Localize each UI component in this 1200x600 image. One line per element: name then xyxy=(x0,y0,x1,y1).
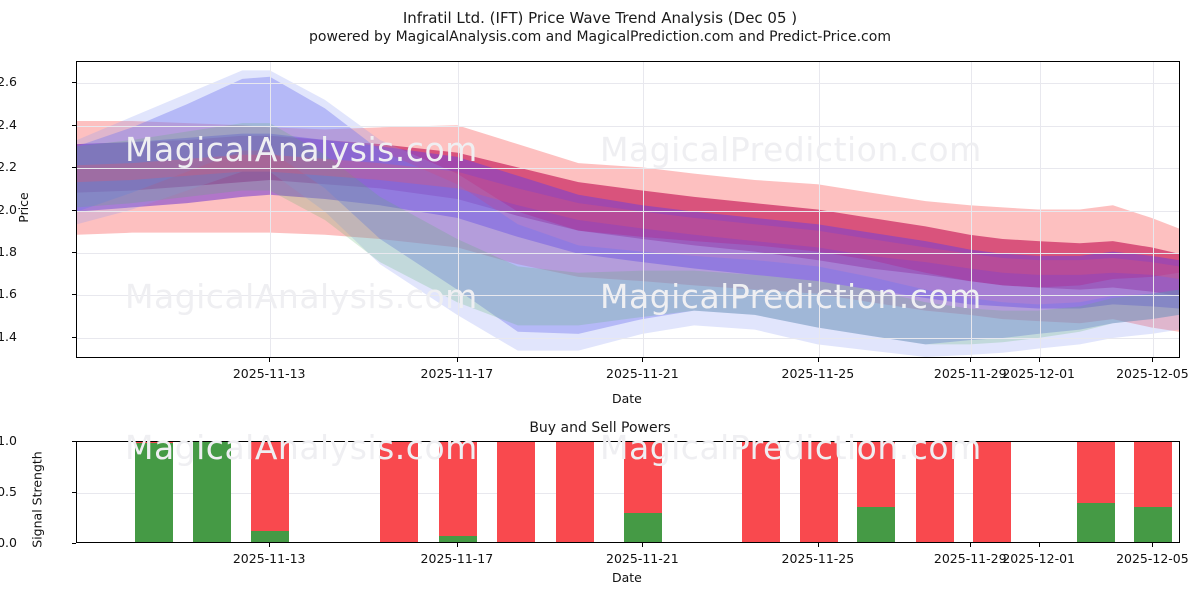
signal-chart-plot-area xyxy=(76,441,1180,543)
signal-bar-sell-segment xyxy=(857,441,895,507)
signal-x-axis-title: Date xyxy=(612,570,642,585)
signal-y-tick xyxy=(72,441,76,442)
price-y-tick xyxy=(72,82,76,83)
price-x-tick xyxy=(457,358,458,362)
signal-bar-sell-segment xyxy=(1077,441,1115,503)
price-gridline-horizontal xyxy=(77,83,1179,84)
signal-x-tick-label: 2025-11-21 xyxy=(606,551,679,566)
signal-chart-title: Buy and Sell Powers xyxy=(0,420,1200,436)
price-y-tick-label: 11.6 xyxy=(0,286,17,301)
price-x-tick-label: 2025-11-13 xyxy=(233,366,306,381)
price-y-tick xyxy=(72,210,76,211)
signal-bar-buy-segment xyxy=(439,536,477,542)
signal-x-tick xyxy=(269,543,270,547)
signal-y-axis-title: Signal Strength xyxy=(30,451,45,547)
signal-bar[interactable] xyxy=(857,441,895,542)
signal-bar-sell-segment xyxy=(973,441,1011,542)
signal-bar-sell-segment xyxy=(742,441,780,542)
price-gridline-vertical xyxy=(1153,62,1154,357)
price-x-tick xyxy=(1152,358,1153,362)
price-gridline-vertical xyxy=(270,62,271,357)
signal-bar-sell-segment xyxy=(556,441,594,542)
signal-bar-sell-segment xyxy=(251,441,289,531)
price-gridline-horizontal xyxy=(77,295,1179,296)
page-title: Infratil Ltd. (IFT) Price Wave Trend Ana… xyxy=(0,8,1200,28)
price-y-tick-label: 12.4 xyxy=(0,117,17,132)
signal-x-tick xyxy=(970,543,971,547)
signal-x-tick-label: 2025-11-25 xyxy=(782,551,855,566)
price-gridline-horizontal xyxy=(77,253,1179,254)
signal-bar[interactable] xyxy=(973,441,1011,542)
signal-bar[interactable] xyxy=(556,441,594,542)
signal-bar[interactable] xyxy=(380,441,418,542)
signal-bar-buy-segment xyxy=(857,507,895,542)
signal-x-tick xyxy=(457,543,458,547)
signal-bar[interactable] xyxy=(251,441,289,542)
signal-x-tick xyxy=(642,543,643,547)
signal-y-tick-label: 0.5 xyxy=(0,484,17,499)
price-x-tick-label: 2025-12-05 xyxy=(1116,366,1189,381)
price-gridline-horizontal xyxy=(77,211,1179,212)
signal-bar[interactable] xyxy=(624,441,662,542)
signal-bar-sell-segment xyxy=(497,441,535,542)
signal-bar[interactable] xyxy=(497,441,535,542)
price-y-tick xyxy=(72,125,76,126)
signal-bar-sell-segment xyxy=(380,441,418,542)
price-gridline-horizontal xyxy=(77,168,1179,169)
price-y-tick-label: 11.8 xyxy=(0,244,17,259)
signal-x-tick xyxy=(1152,543,1153,547)
price-x-tick-label: 2025-11-17 xyxy=(421,366,494,381)
signal-bar-buy-segment xyxy=(1134,507,1172,542)
price-y-axis-title: Price xyxy=(16,192,31,223)
price-y-tick-label: 12.2 xyxy=(0,159,17,174)
signal-bar-sell-segment xyxy=(916,441,954,542)
price-x-axis-title: Date xyxy=(612,391,642,406)
price-gridline-vertical xyxy=(819,62,820,357)
title-block: Infratil Ltd. (IFT) Price Wave Trend Ana… xyxy=(0,8,1200,47)
signal-bar-buy-segment xyxy=(1077,503,1115,542)
signal-bar-sell-segment xyxy=(439,441,477,536)
price-x-tick xyxy=(818,358,819,362)
signal-bar[interactable] xyxy=(439,441,477,542)
price-x-tick-label: 2025-12-01 xyxy=(1002,366,1075,381)
signal-bar-sell-segment xyxy=(1134,441,1172,507)
signal-x-tick-label: 2025-12-05 xyxy=(1116,551,1189,566)
price-x-tick xyxy=(269,358,270,362)
signal-y-tick-label: 0.0 xyxy=(0,535,17,550)
signal-bar-sell-segment xyxy=(800,441,838,542)
signal-bar-buy-segment xyxy=(193,441,231,542)
signal-bar-buy-segment xyxy=(624,513,662,542)
signal-bar-buy-segment xyxy=(251,531,289,542)
price-y-tick-label: 12.6 xyxy=(0,74,17,89)
price-y-tick-label: 12.0 xyxy=(0,202,17,217)
price-gridline-vertical xyxy=(643,62,644,357)
price-y-tick xyxy=(72,167,76,168)
page-subtitle: powered by MagicalAnalysis.com and Magic… xyxy=(0,28,1200,47)
signal-x-tick xyxy=(818,543,819,547)
signal-bar[interactable] xyxy=(135,441,173,542)
signal-bar[interactable] xyxy=(742,441,780,542)
price-gridline-vertical xyxy=(1040,62,1041,357)
signal-bar-buy-segment xyxy=(135,443,173,542)
signal-bar[interactable] xyxy=(916,441,954,542)
signal-x-tick-label: 2025-12-01 xyxy=(1002,551,1075,566)
chart-page: Infratil Ltd. (IFT) Price Wave Trend Ana… xyxy=(0,0,1200,600)
signal-bar[interactable] xyxy=(800,441,838,542)
price-y-tick xyxy=(72,252,76,253)
price-x-tick xyxy=(1039,358,1040,362)
signal-x-tick xyxy=(1039,543,1040,547)
price-gridline-vertical xyxy=(971,62,972,357)
price-gridline-vertical xyxy=(458,62,459,357)
price-x-tick xyxy=(642,358,643,362)
price-x-tick xyxy=(970,358,971,362)
signal-bar-sell-segment xyxy=(624,441,662,513)
price-gridline-horizontal xyxy=(77,126,1179,127)
signal-bar[interactable] xyxy=(193,441,231,542)
price-y-tick-label: 11.4 xyxy=(0,329,17,344)
price-y-tick xyxy=(72,337,76,338)
signal-x-tick-label: 2025-11-29 xyxy=(934,551,1007,566)
price-band-layer xyxy=(77,62,1179,357)
signal-y-tick xyxy=(72,543,76,544)
signal-x-tick-label: 2025-11-13 xyxy=(233,551,306,566)
signal-x-tick-label: 2025-11-17 xyxy=(421,551,494,566)
signal-y-tick-label: 1.0 xyxy=(0,433,17,448)
signal-y-tick xyxy=(72,492,76,493)
price-x-tick-label: 2025-11-25 xyxy=(782,366,855,381)
price-x-tick-label: 2025-11-21 xyxy=(606,366,679,381)
signal-bar[interactable] xyxy=(1134,441,1172,542)
price-y-tick xyxy=(72,294,76,295)
price-gridline-horizontal xyxy=(77,338,1179,339)
signal-bar[interactable] xyxy=(1077,441,1115,542)
price-x-tick-label: 2025-11-29 xyxy=(934,366,1007,381)
price-chart-plot-area xyxy=(76,61,1180,358)
